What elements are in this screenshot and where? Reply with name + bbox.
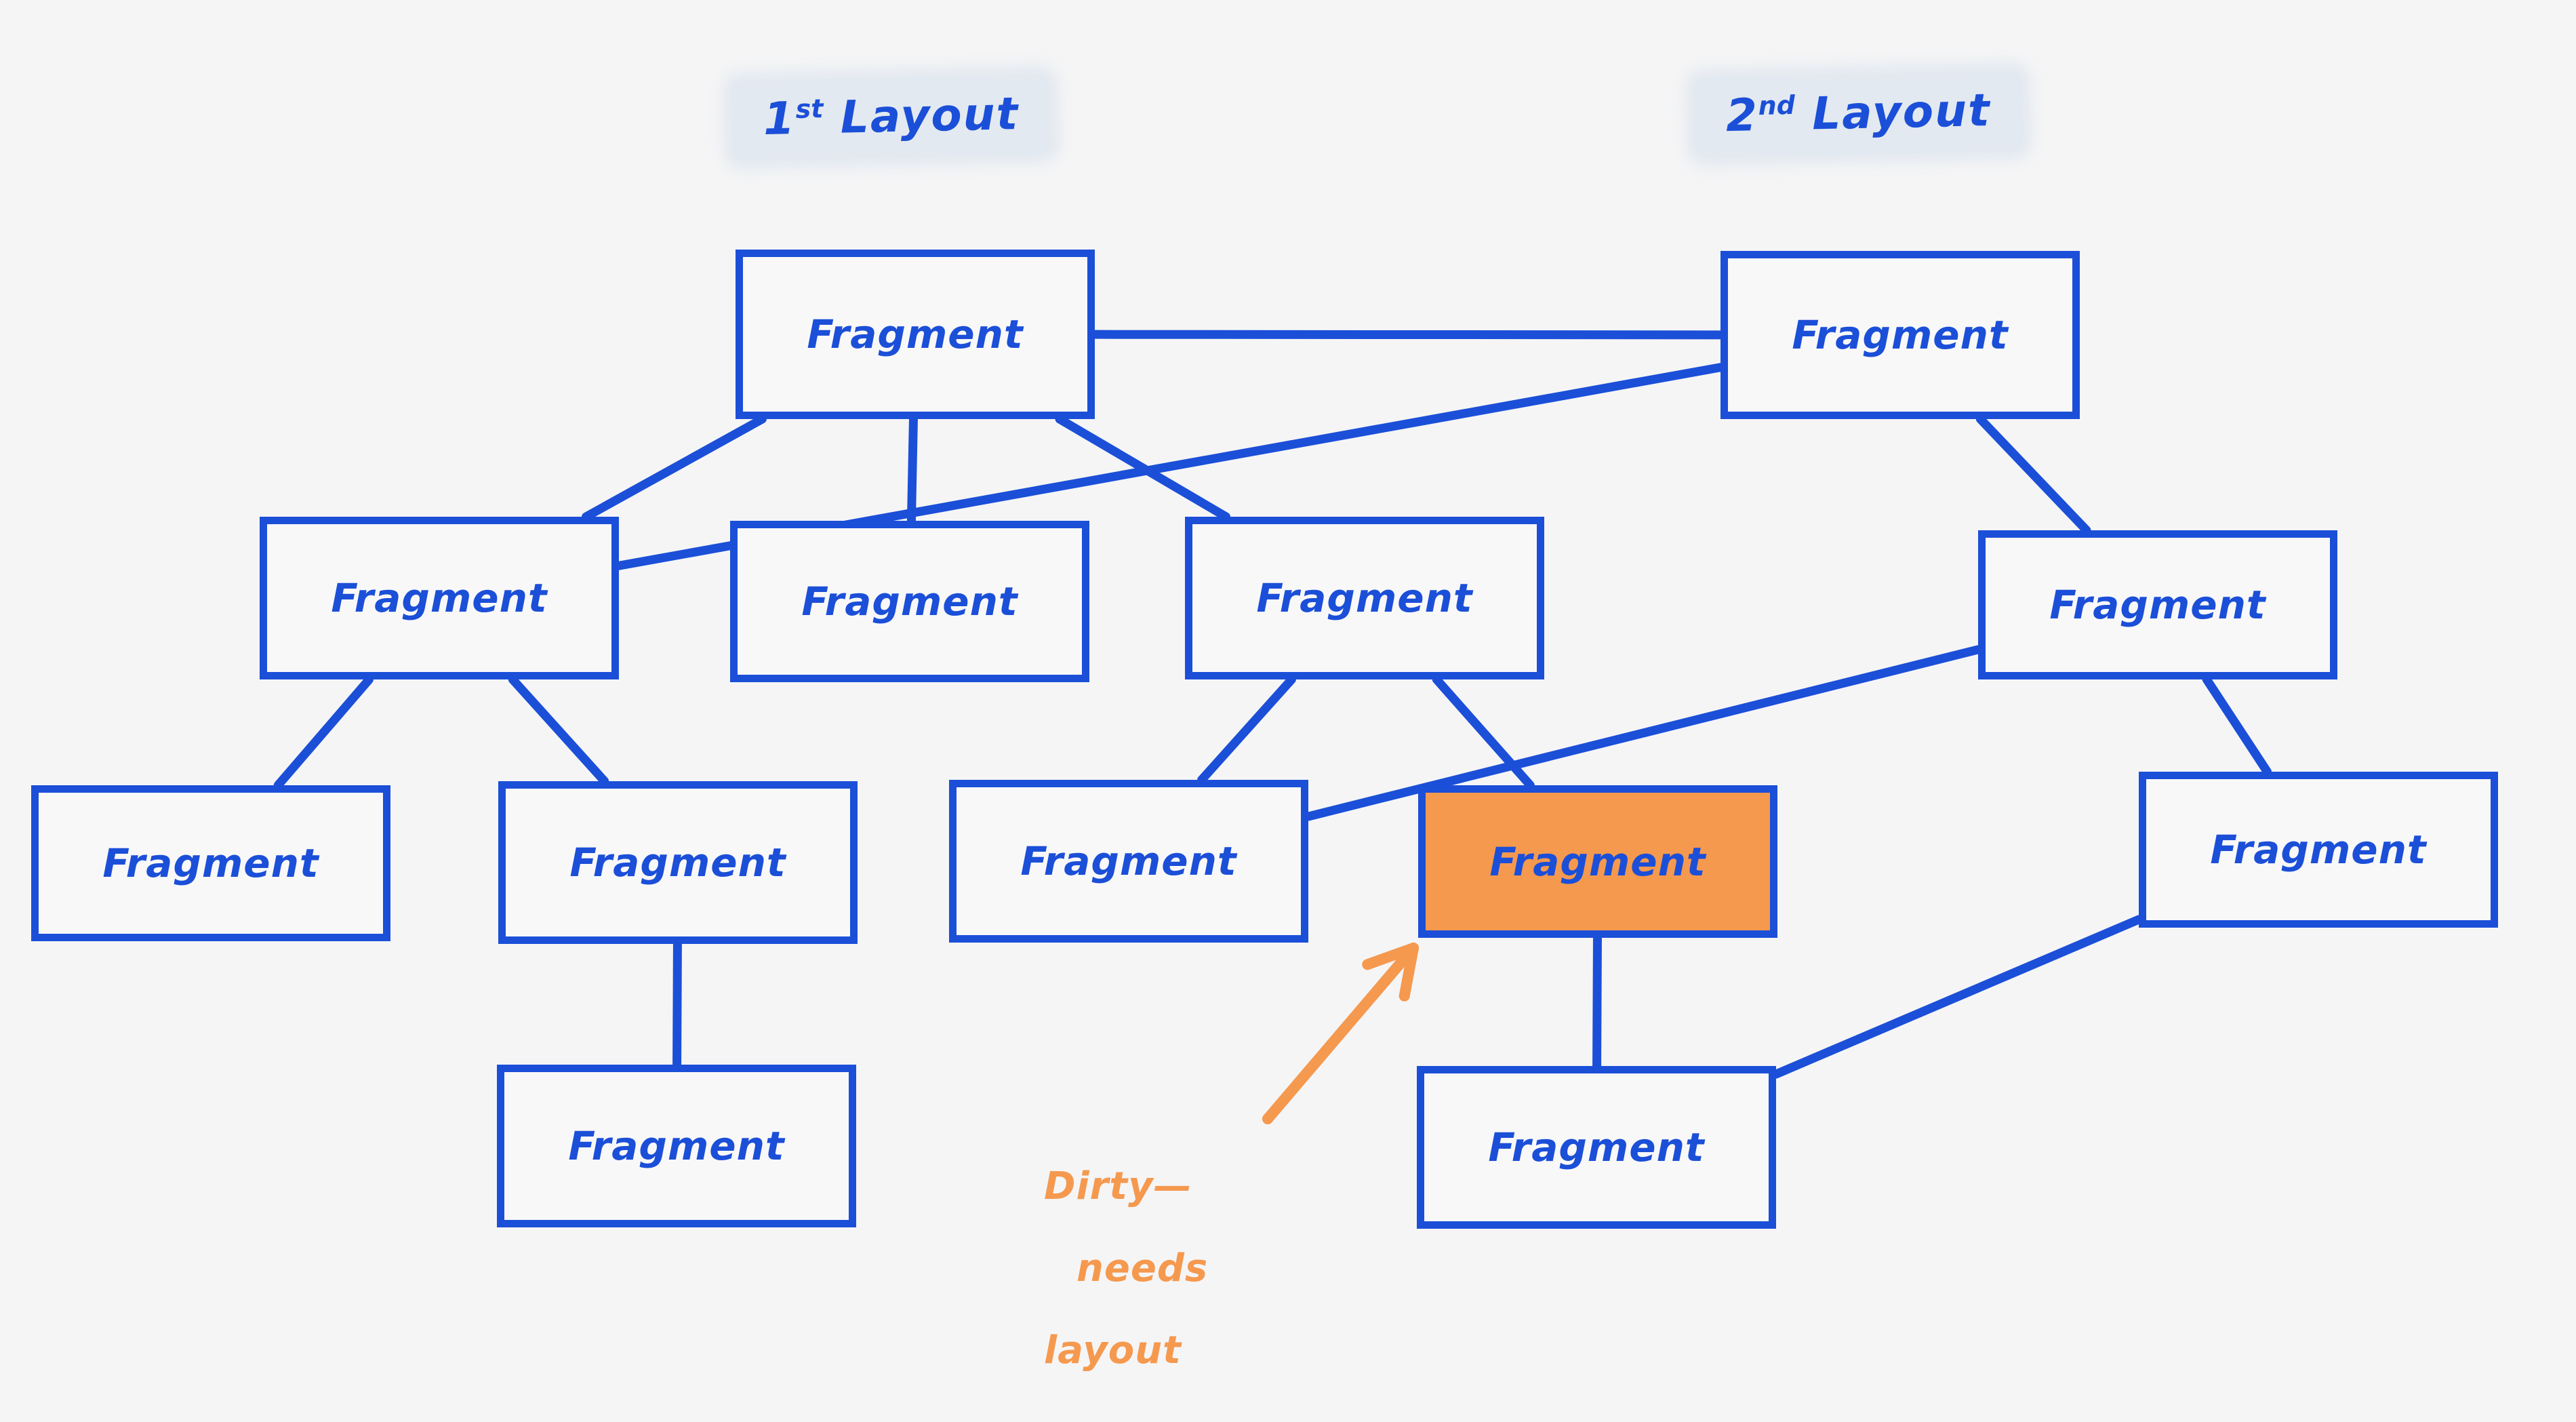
section-title-first-layout: 1st Layout bbox=[731, 75, 1051, 161]
section-title-second-layout: 2nd Layout bbox=[1694, 71, 2023, 157]
fragment-node-label: Fragment bbox=[1020, 838, 1236, 884]
fragment-node[interactable]: Fragment bbox=[2139, 772, 2498, 928]
fragment-node-label: Fragment bbox=[102, 840, 319, 886]
fragment-node-label: Fragment bbox=[2210, 827, 2426, 873]
title-second-sup: nd bbox=[1758, 90, 1795, 121]
fragment-node-label: Fragment bbox=[801, 578, 1018, 625]
fragment-node-label: Fragment bbox=[2049, 582, 2266, 628]
title-first-sup: st bbox=[795, 94, 824, 124]
fragment-node[interactable]: Fragment bbox=[1720, 251, 2080, 419]
tree-edge bbox=[278, 679, 369, 785]
fragment-node[interactable]: Fragment bbox=[949, 780, 1308, 943]
fragment-node[interactable]: Fragment bbox=[498, 781, 858, 944]
fragment-node[interactable]: Fragment bbox=[31, 785, 390, 941]
fragment-node-dirty[interactable]: Fragment bbox=[1418, 785, 1777, 938]
fragment-node-label: Fragment bbox=[568, 1123, 784, 1169]
tree-edge bbox=[911, 419, 913, 521]
tree-edge bbox=[1202, 679, 1292, 780]
title-second-rest: Layout bbox=[1794, 84, 1991, 140]
connector-layer bbox=[0, 0, 2576, 1422]
fragment-node[interactable]: Fragment bbox=[1185, 517, 1544, 679]
title-second-text: 2 bbox=[1725, 89, 1759, 142]
tree-edge bbox=[1980, 419, 2087, 530]
annotation-line-2: needs bbox=[1076, 1248, 1208, 1289]
fragment-node[interactable]: Fragment bbox=[730, 521, 1089, 682]
annotation-line-1: Dirty— bbox=[1044, 1166, 1208, 1207]
tree-edge bbox=[1436, 679, 1530, 785]
fragment-node-label: Fragment bbox=[1792, 312, 2008, 358]
fragment-node[interactable]: Fragment bbox=[1417, 1066, 1776, 1229]
diagram-canvas: 1st Layout 2nd Layout FragmentFragmentFr… bbox=[0, 0, 2576, 1422]
title-first-text: 1 bbox=[763, 92, 797, 145]
fragment-node[interactable]: Fragment bbox=[497, 1065, 856, 1227]
tree-edge bbox=[512, 679, 604, 781]
fragment-node-label: Fragment bbox=[1488, 1124, 1704, 1170]
tree-edge bbox=[677, 944, 678, 1065]
dirty-annotation: Dirty— needs layout bbox=[1044, 1126, 1208, 1413]
tree-edge bbox=[1597, 938, 1598, 1066]
fragment-node-label: Fragment bbox=[807, 311, 1023, 357]
fragment-node-label: Fragment bbox=[1256, 575, 1472, 621]
tree-edge bbox=[1060, 419, 1226, 517]
annotation-line-3: layout bbox=[1044, 1330, 1208, 1371]
fragment-node[interactable]: Fragment bbox=[736, 250, 1095, 419]
tree-edge bbox=[1776, 920, 2139, 1074]
fragment-node[interactable]: Fragment bbox=[1978, 530, 2337, 679]
title-first-rest: Layout bbox=[823, 87, 1020, 144]
fragment-node-label: Fragment bbox=[1489, 839, 1706, 885]
fragment-node-label: Fragment bbox=[569, 840, 786, 886]
fragment-node[interactable]: Fragment bbox=[260, 517, 619, 679]
fragment-node-label: Fragment bbox=[331, 575, 547, 621]
tree-edge bbox=[586, 419, 763, 517]
dirty-arrow-icon bbox=[1268, 948, 1413, 1119]
tree-edge bbox=[2207, 679, 2267, 772]
tree-edge bbox=[1095, 334, 1720, 335]
